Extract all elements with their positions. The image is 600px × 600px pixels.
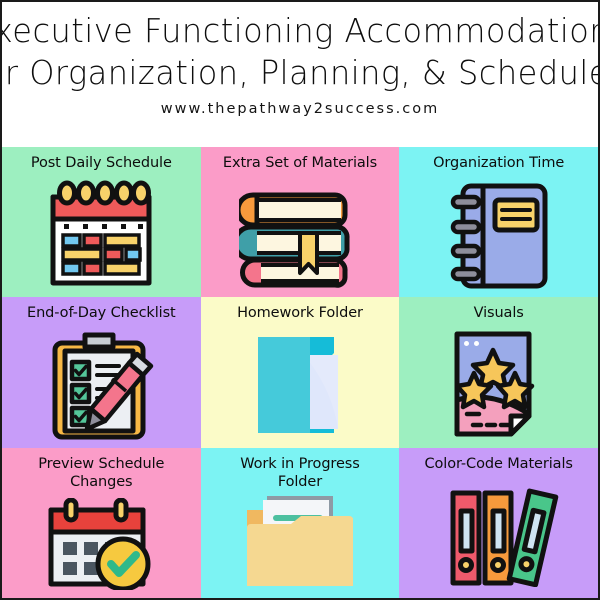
grid-cell-work-in-progress-folder[interactable]: Work in Progress Folder bbox=[201, 448, 400, 598]
grid-cell-homework-folder[interactable]: Homework Folder bbox=[201, 297, 400, 447]
grid-cell-post-daily-schedule[interactable]: Post Daily Schedule bbox=[2, 147, 201, 297]
cell-title: End-of-Day Checklist bbox=[23, 304, 180, 322]
infographic-poster: Executive Functioning Accommodations for… bbox=[0, 0, 600, 600]
cyan-folder-icon bbox=[201, 322, 400, 447]
calendar-icon bbox=[2, 172, 201, 297]
clipboard-checklist-icon bbox=[2, 322, 201, 447]
cell-title: Homework Folder bbox=[233, 304, 367, 322]
page-title-line-2: for Organization, Planning, & Schedules bbox=[0, 52, 600, 94]
grid-cell-organization-time[interactable]: Organization Time bbox=[399, 147, 598, 297]
cell-title: Extra Set of Materials bbox=[219, 154, 381, 172]
grid-cell-preview-schedule-changes[interactable]: Preview Schedule Changes bbox=[2, 448, 201, 598]
open-folder-docs-icon bbox=[201, 491, 400, 598]
cell-title: Post Daily Schedule bbox=[27, 154, 176, 172]
cell-title: Organization Time bbox=[429, 154, 568, 172]
spiral-notebook-icon bbox=[399, 172, 598, 297]
cell-title: Color-Code Materials bbox=[420, 455, 576, 473]
site-url: www.thepathway2success.com bbox=[161, 101, 439, 117]
cell-title: Preview Schedule Changes bbox=[34, 455, 168, 491]
cell-title: Work in Progress Folder bbox=[236, 455, 363, 491]
star-poster-icon bbox=[399, 322, 598, 447]
binders-icon bbox=[399, 473, 598, 598]
book-stack-icon bbox=[201, 172, 400, 297]
cell-title: Visuals bbox=[470, 304, 528, 322]
grid-cell-extra-set-of-materials[interactable]: Extra Set of Materials bbox=[201, 147, 400, 297]
poster-header: Executive Functioning Accommodations for… bbox=[2, 2, 598, 147]
page-title-line-1: Executive Functioning Accommodations bbox=[0, 10, 600, 52]
grid-cell-visuals[interactable]: Visuals bbox=[399, 297, 598, 447]
grid-cell-end-of-day-checklist[interactable]: End-of-Day Checklist bbox=[2, 297, 201, 447]
accommodations-grid: Post Daily Schedule bbox=[2, 147, 598, 598]
grid-cell-color-code-materials[interactable]: Color-Code Materials bbox=[399, 448, 598, 598]
calendar-check-icon bbox=[2, 491, 201, 598]
